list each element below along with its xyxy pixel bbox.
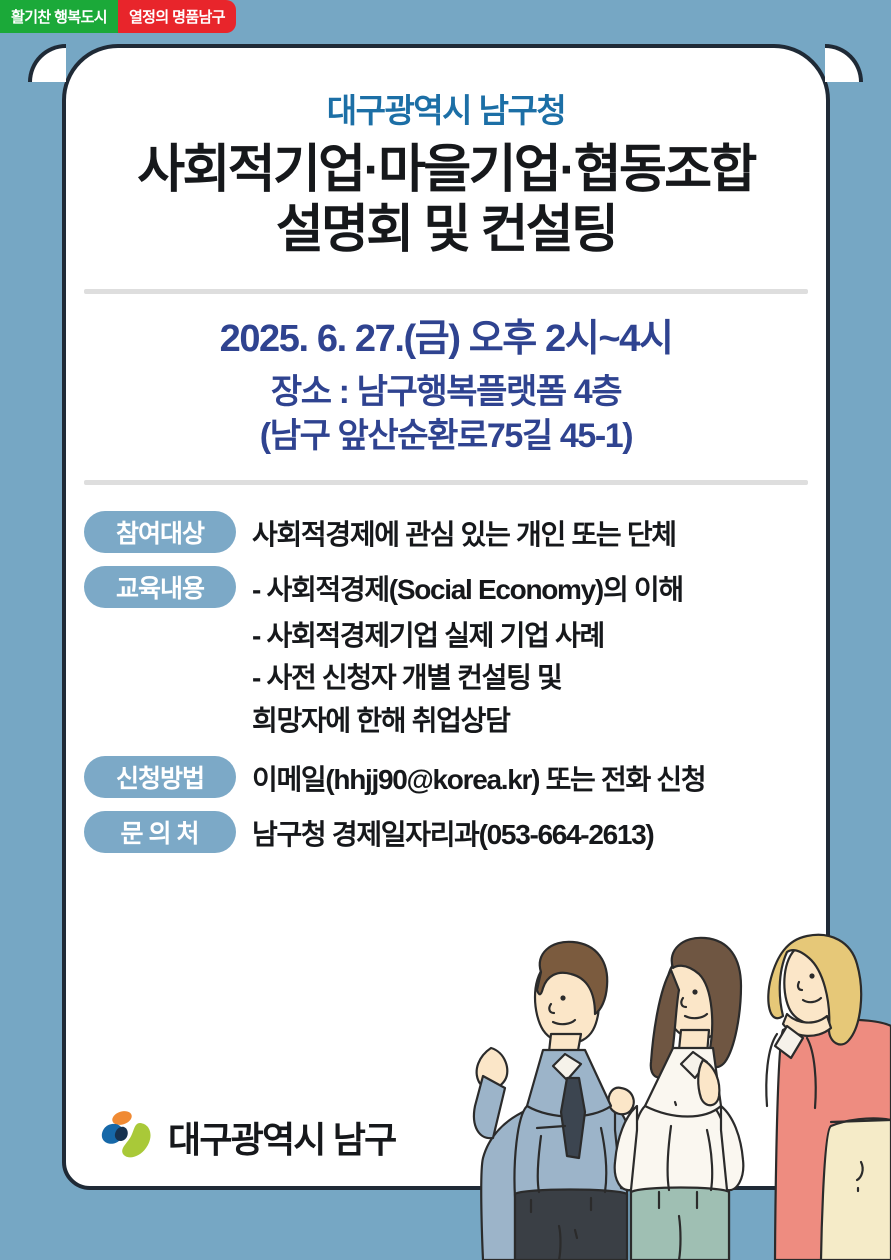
slogan-tag-red: 열정의 명품남구 — [118, 0, 236, 33]
detail-value-contact: 남구청 경제일자리과(053-664-2613) — [252, 811, 816, 856]
slogan-ribbon: 활기찬 행복도시 열정의 명품남구 — [0, 0, 236, 33]
detail-value-apply-method: 이메일(hhjj90@korea.kr) 또는 전화 신청 — [252, 756, 816, 801]
namgu-logo-icon — [96, 1110, 158, 1164]
divider-bottom — [84, 480, 808, 485]
detail-value-curriculum-3: - 사전 신청자 개별 컨설팅 및 희망자에 한해 취업상담 — [252, 657, 816, 742]
detail-label-participants: 참여대상 — [84, 511, 236, 553]
detail-label-contact: 문의처 — [84, 811, 236, 853]
event-datetime: 2025. 6. 27.(금) 오후 2시~4시 — [62, 316, 830, 362]
details-list: 참여대상 사회적경제에 관심 있는 개인 또는 단체 교육내용 - 사회적경제(… — [62, 511, 830, 855]
detail-row-contact: 문의처 남구청 경제일자리과(053-664-2613) — [84, 811, 816, 856]
page-title: 사회적기업·마을기업·협동조합 설명회 및 컨설팅 — [62, 140, 830, 261]
poster-content: 대구광역시 남구청 사회적기업·마을기업·협동조합 설명회 및 컨설팅 2025… — [62, 44, 830, 1190]
detail-row-apply-method: 신청방법 이메일(hhjj90@korea.kr) 또는 전화 신청 — [84, 756, 816, 801]
card-corner-notch-right — [829, 44, 863, 78]
detail-label-apply-method: 신청방법 — [84, 756, 236, 798]
event-info-block: 2025. 6. 27.(금) 오후 2시~4시 장소 : 남구행복플랫폼 4층… — [62, 316, 830, 459]
detail-row-curriculum: 교육내용 - 사회적경제(Social Economy)의 이해 — [84, 566, 816, 611]
footer-logo-text: 대구광역시 남구 — [168, 1111, 395, 1163]
card-corner-notch-left — [28, 44, 62, 78]
detail-value-curriculum-2: - 사회적경제기업 실제 기업 사례 — [252, 615, 816, 658]
slogan-tag-green: 활기찬 행복도시 — [0, 0, 118, 33]
organization-label: 대구광역시 남구청 — [62, 84, 830, 132]
detail-label-curriculum: 교육내용 — [84, 566, 236, 608]
divider-top — [84, 289, 808, 294]
footer-logo: 대구광역시 남구 — [96, 1110, 395, 1164]
detail-value-participants: 사회적경제에 관심 있는 개인 또는 단체 — [252, 511, 816, 556]
detail-row-participants: 참여대상 사회적경제에 관심 있는 개인 또는 단체 — [84, 511, 816, 556]
detail-value-curriculum-1: - 사회적경제(Social Economy)의 이해 — [252, 566, 816, 611]
event-place: 장소 : 남구행복플랫폼 4층 (남구 앞산순환로75길 45-1) — [62, 370, 830, 458]
